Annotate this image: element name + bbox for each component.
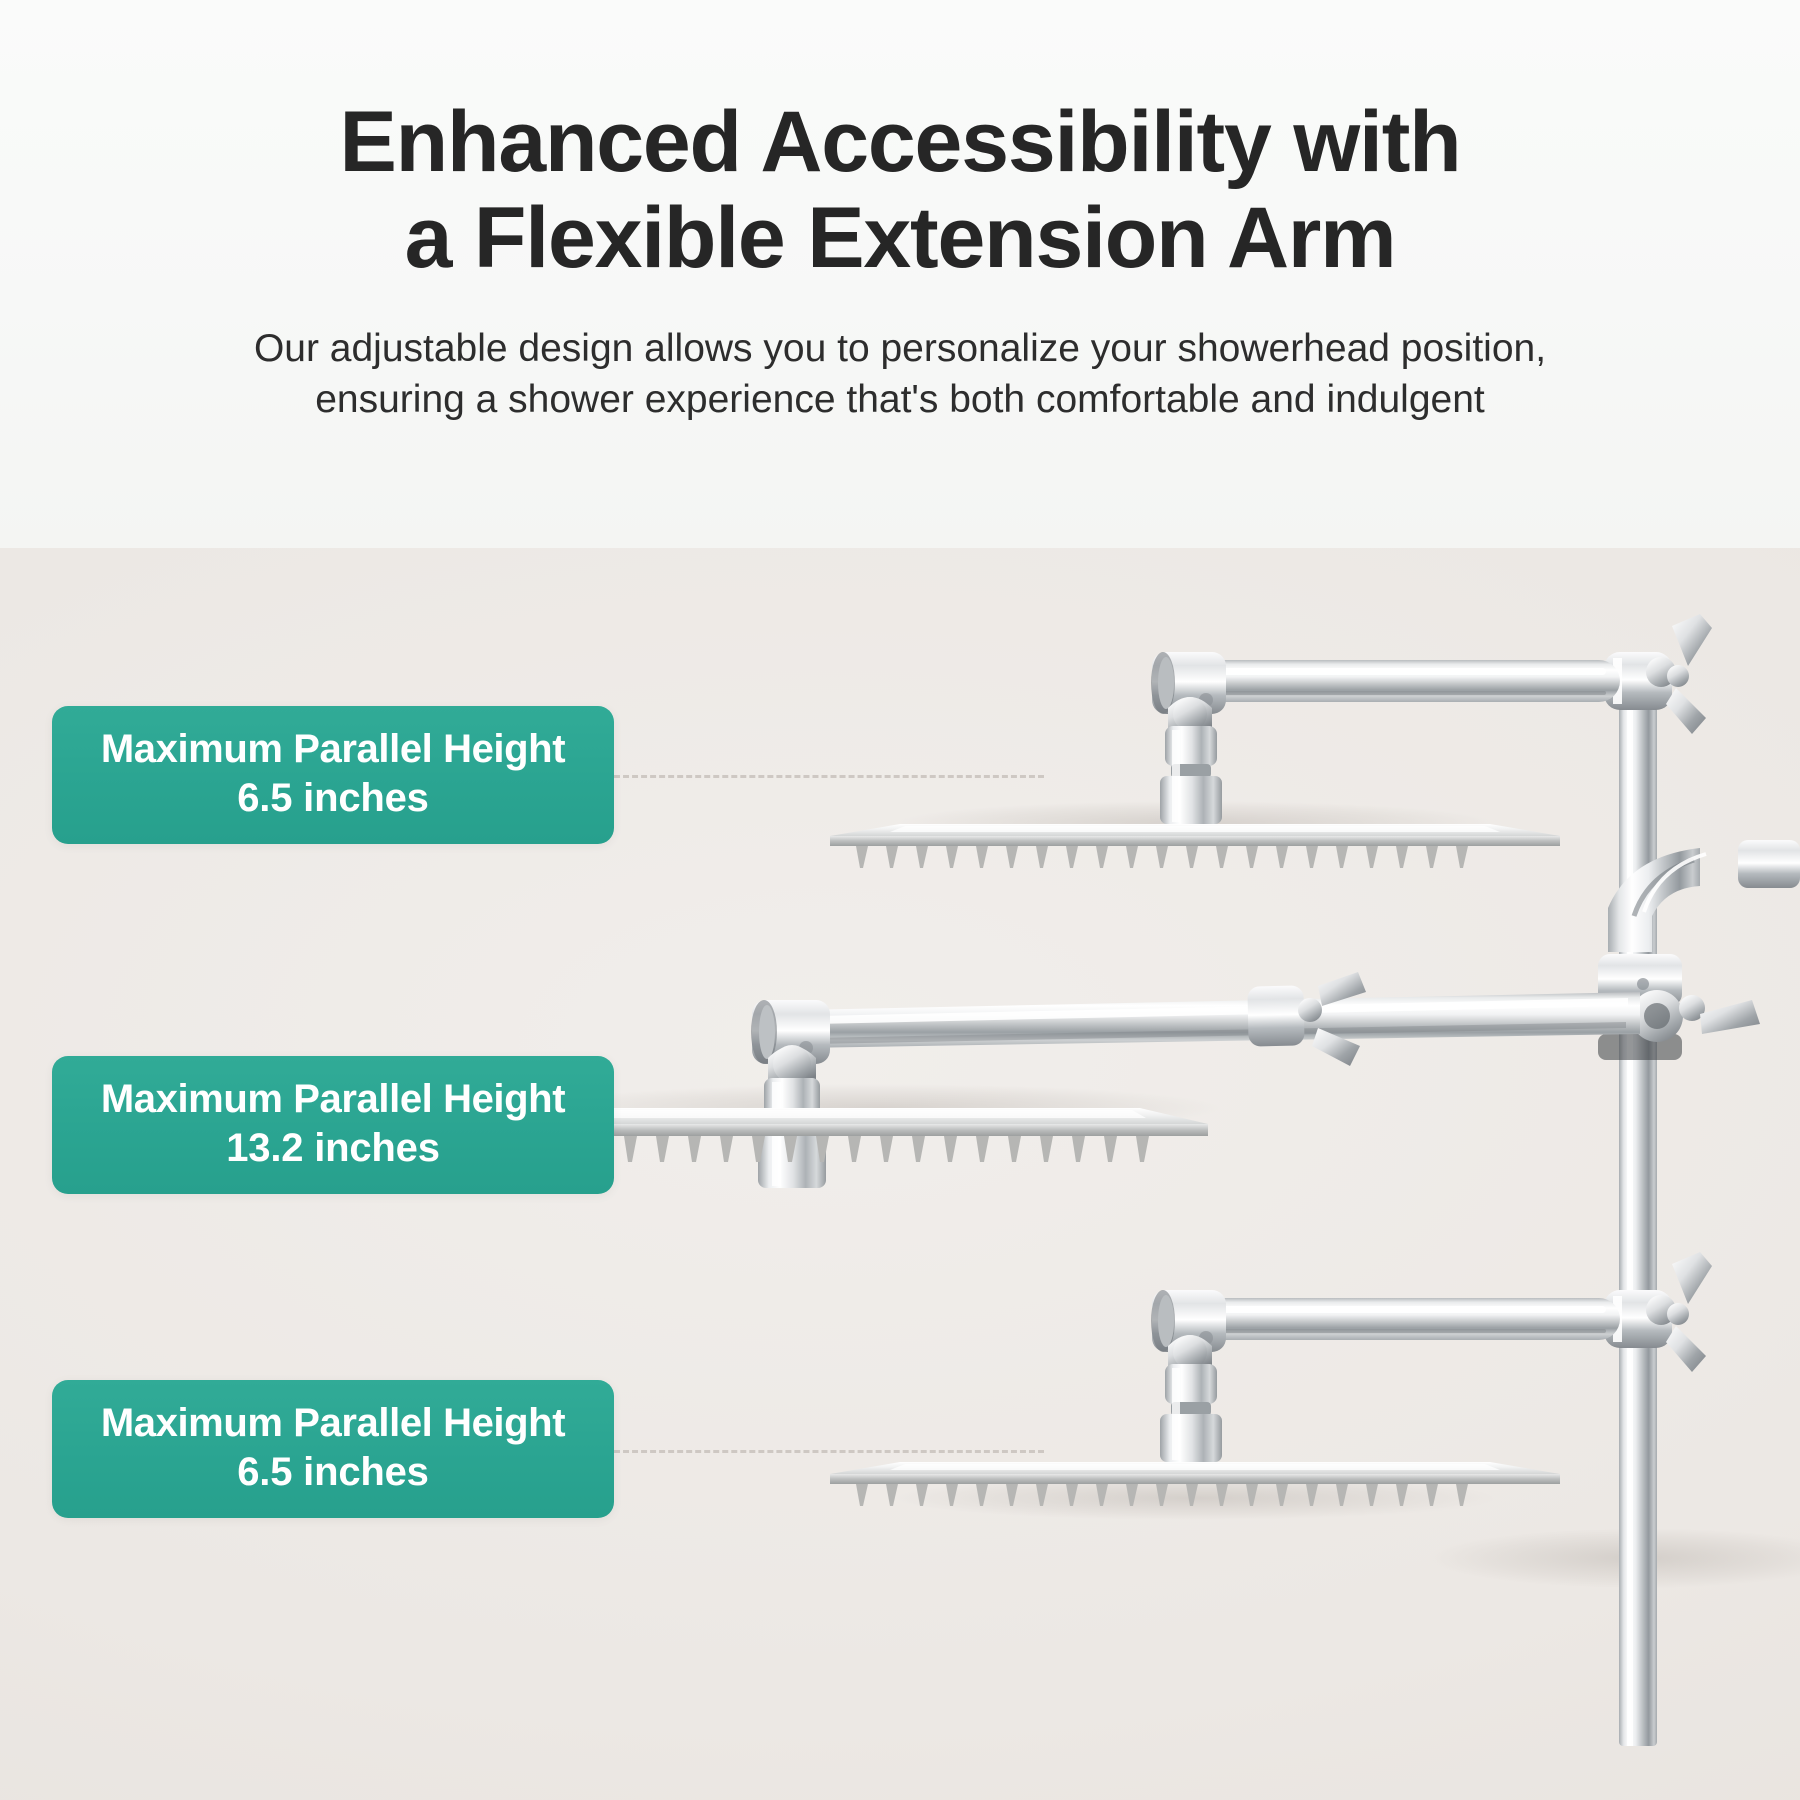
subtitle-line-1: Our adjustable design allows you to pers… bbox=[254, 323, 1546, 375]
ball-swivel-joint-top bbox=[1151, 652, 1226, 731]
callout-badge-top[interactable]: Maximum Parallel Height 6.5 inches bbox=[52, 706, 614, 844]
callout-value-bottom: 6.5 inches bbox=[70, 1449, 596, 1496]
callout-value-middle: 13.2 inches bbox=[70, 1125, 596, 1172]
product-feature-image: Enhanced Accessibility with a Flexible E… bbox=[0, 0, 1800, 1800]
square-rain-showerhead-top bbox=[830, 824, 1560, 868]
product-stage: Maximum Parallel Height 6.5 inches Maxim… bbox=[0, 548, 1800, 1800]
callout-value-top: 6.5 inches bbox=[70, 775, 596, 822]
callout-title-top: Maximum Parallel Height bbox=[70, 726, 596, 773]
vertical-riser-pipe bbox=[1427, 666, 1800, 1746]
callout-badge-middle[interactable]: Maximum Parallel Height 13.2 inches bbox=[52, 1056, 614, 1194]
showerhead-stem-middle bbox=[758, 1078, 826, 1188]
wing-nut-handle-top bbox=[1666, 614, 1712, 734]
leader-line-middle bbox=[614, 1126, 724, 1129]
ball-swivel-joint-middle bbox=[751, 1000, 830, 1083]
elbow-joint-bottom bbox=[1604, 1252, 1712, 1372]
extension-arm-top bbox=[1196, 660, 1620, 702]
assembly-bottom bbox=[830, 1252, 1712, 1520]
leader-line-bottom bbox=[614, 1450, 1044, 1453]
nozzle-row-top bbox=[856, 846, 1468, 868]
extension-arm-middle bbox=[800, 972, 1640, 1066]
callout-title-middle: Maximum Parallel Height bbox=[70, 1076, 596, 1123]
nozzle-row-bottom bbox=[856, 1484, 1468, 1506]
page-subtitle: Our adjustable design allows you to pers… bbox=[254, 287, 1546, 427]
ball-swivel-joint-bottom bbox=[1151, 1290, 1226, 1369]
wall-supply-elbow bbox=[1608, 840, 1800, 952]
subtitle-line-2: ensuring a shower experience that's both… bbox=[254, 374, 1546, 426]
leader-line-top bbox=[614, 775, 1044, 778]
elbow-joint-top bbox=[1604, 614, 1712, 734]
square-rain-showerhead-bottom bbox=[830, 1462, 1560, 1506]
headline-line-2: a Flexible Extension Arm bbox=[340, 190, 1461, 286]
callout-title-bottom: Maximum Parallel Height bbox=[70, 1400, 596, 1447]
page-title: Enhanced Accessibility with a Flexible E… bbox=[340, 0, 1461, 287]
assembly-top bbox=[830, 614, 1712, 868]
center-pivot-joint bbox=[1598, 954, 1760, 1060]
wing-nut-handle-bottom bbox=[1666, 1252, 1712, 1372]
header-band: Enhanced Accessibility with a Flexible E… bbox=[0, 0, 1800, 548]
extension-arm-bottom bbox=[1196, 1298, 1620, 1340]
assembly-middle bbox=[470, 840, 1800, 1188]
showerhead-stem-bottom bbox=[1160, 1364, 1222, 1462]
callout-badge-bottom[interactable]: Maximum Parallel Height 6.5 inches bbox=[52, 1380, 614, 1518]
showerhead-stem-top bbox=[1160, 726, 1222, 824]
wing-nut-handle-middle bbox=[1700, 1000, 1760, 1034]
headline-line-1: Enhanced Accessibility with bbox=[340, 94, 1461, 190]
